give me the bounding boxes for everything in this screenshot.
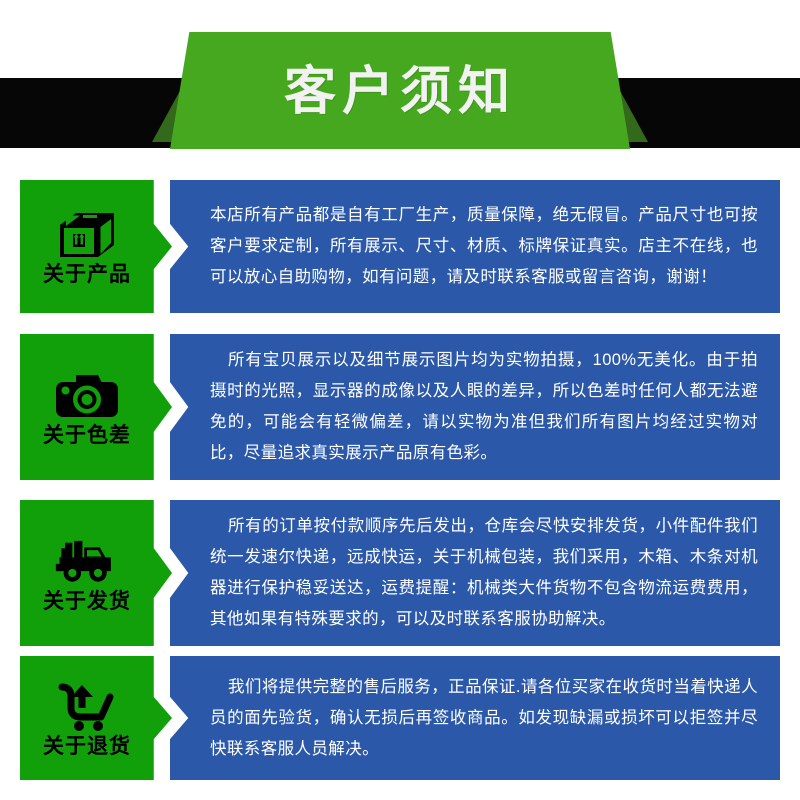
camera-icon — [54, 369, 120, 423]
badge-label-shipping: 关于发货 — [43, 591, 131, 612]
package-box-icon — [54, 208, 120, 262]
page-header: 客户须知 — [0, 0, 800, 160]
panel-text-shipping: 所有的订单按付款顺序先后发出，仓库会尽快安排发货，小件配件我们统一发速尔快递，远… — [170, 511, 780, 635]
badge-return[interactable]: 关于退货 — [20, 656, 172, 780]
badge-label-return: 关于退货 — [43, 736, 131, 757]
panel-text-return: 我们将提供完整的售后服务，正品保证.请各位买家在收货时当着快递人员的面先验货，确… — [170, 672, 780, 765]
panel-text-color: 所有宝贝展示以及细节展示图片均为实物拍摄，100%无美化。由于拍摄时的光照，显示… — [170, 345, 780, 469]
notice-section-shipping: 关于发货 所有的订单按付款顺序先后发出，仓库会尽快安排发货，小件配件我们统一发速… — [0, 500, 800, 646]
notice-section-product: 关于产品 本店所有产品都是自有工厂生产，质量保障，绝无假冒。产品尺寸也可按客户要… — [0, 180, 800, 313]
badge-shipping[interactable]: 关于发货 — [20, 500, 172, 646]
badge-color[interactable]: 关于色差 — [20, 334, 172, 480]
return-cart-icon — [54, 680, 120, 734]
panel-shipping: 所有的订单按付款顺序先后发出，仓库会尽快安排发货，小件配件我们统一发速尔快递，远… — [170, 500, 780, 646]
customer-notice-page: 客户须知 关于产品 — [0, 0, 800, 800]
page-title: 客户须知 — [284, 66, 516, 118]
panel-return: 我们将提供完整的售后服务，正品保证.请各位买家在收货时当着快递人员的面先验货，确… — [170, 656, 780, 780]
badge-label-color: 关于色差 — [43, 425, 131, 446]
header-ribbon: 客户须知 — [170, 32, 630, 149]
panel-product: 本店所有产品都是自有工厂生产，质量保障，绝无假冒。产品尺寸也可按客户要求定制，所… — [170, 180, 780, 313]
forklift-truck-icon — [54, 535, 120, 589]
badge-label-product: 关于产品 — [43, 264, 131, 285]
notice-section-color: 关于色差 所有宝贝展示以及细节展示图片均为实物拍摄，100%无美化。由于拍摄时的… — [0, 334, 800, 480]
notice-section-return: 关于退货 我们将提供完整的售后服务，正品保证.请各位买家在收货时当着快递人员的面… — [0, 656, 800, 780]
panel-color: 所有宝贝展示以及细节展示图片均为实物拍摄，100%无美化。由于拍摄时的光照，显示… — [170, 334, 780, 480]
badge-product[interactable]: 关于产品 — [20, 180, 172, 313]
panel-text-product: 本店所有产品都是自有工厂生产，质量保障，绝无假冒。产品尺寸也可按客户要求定制，所… — [170, 200, 780, 293]
